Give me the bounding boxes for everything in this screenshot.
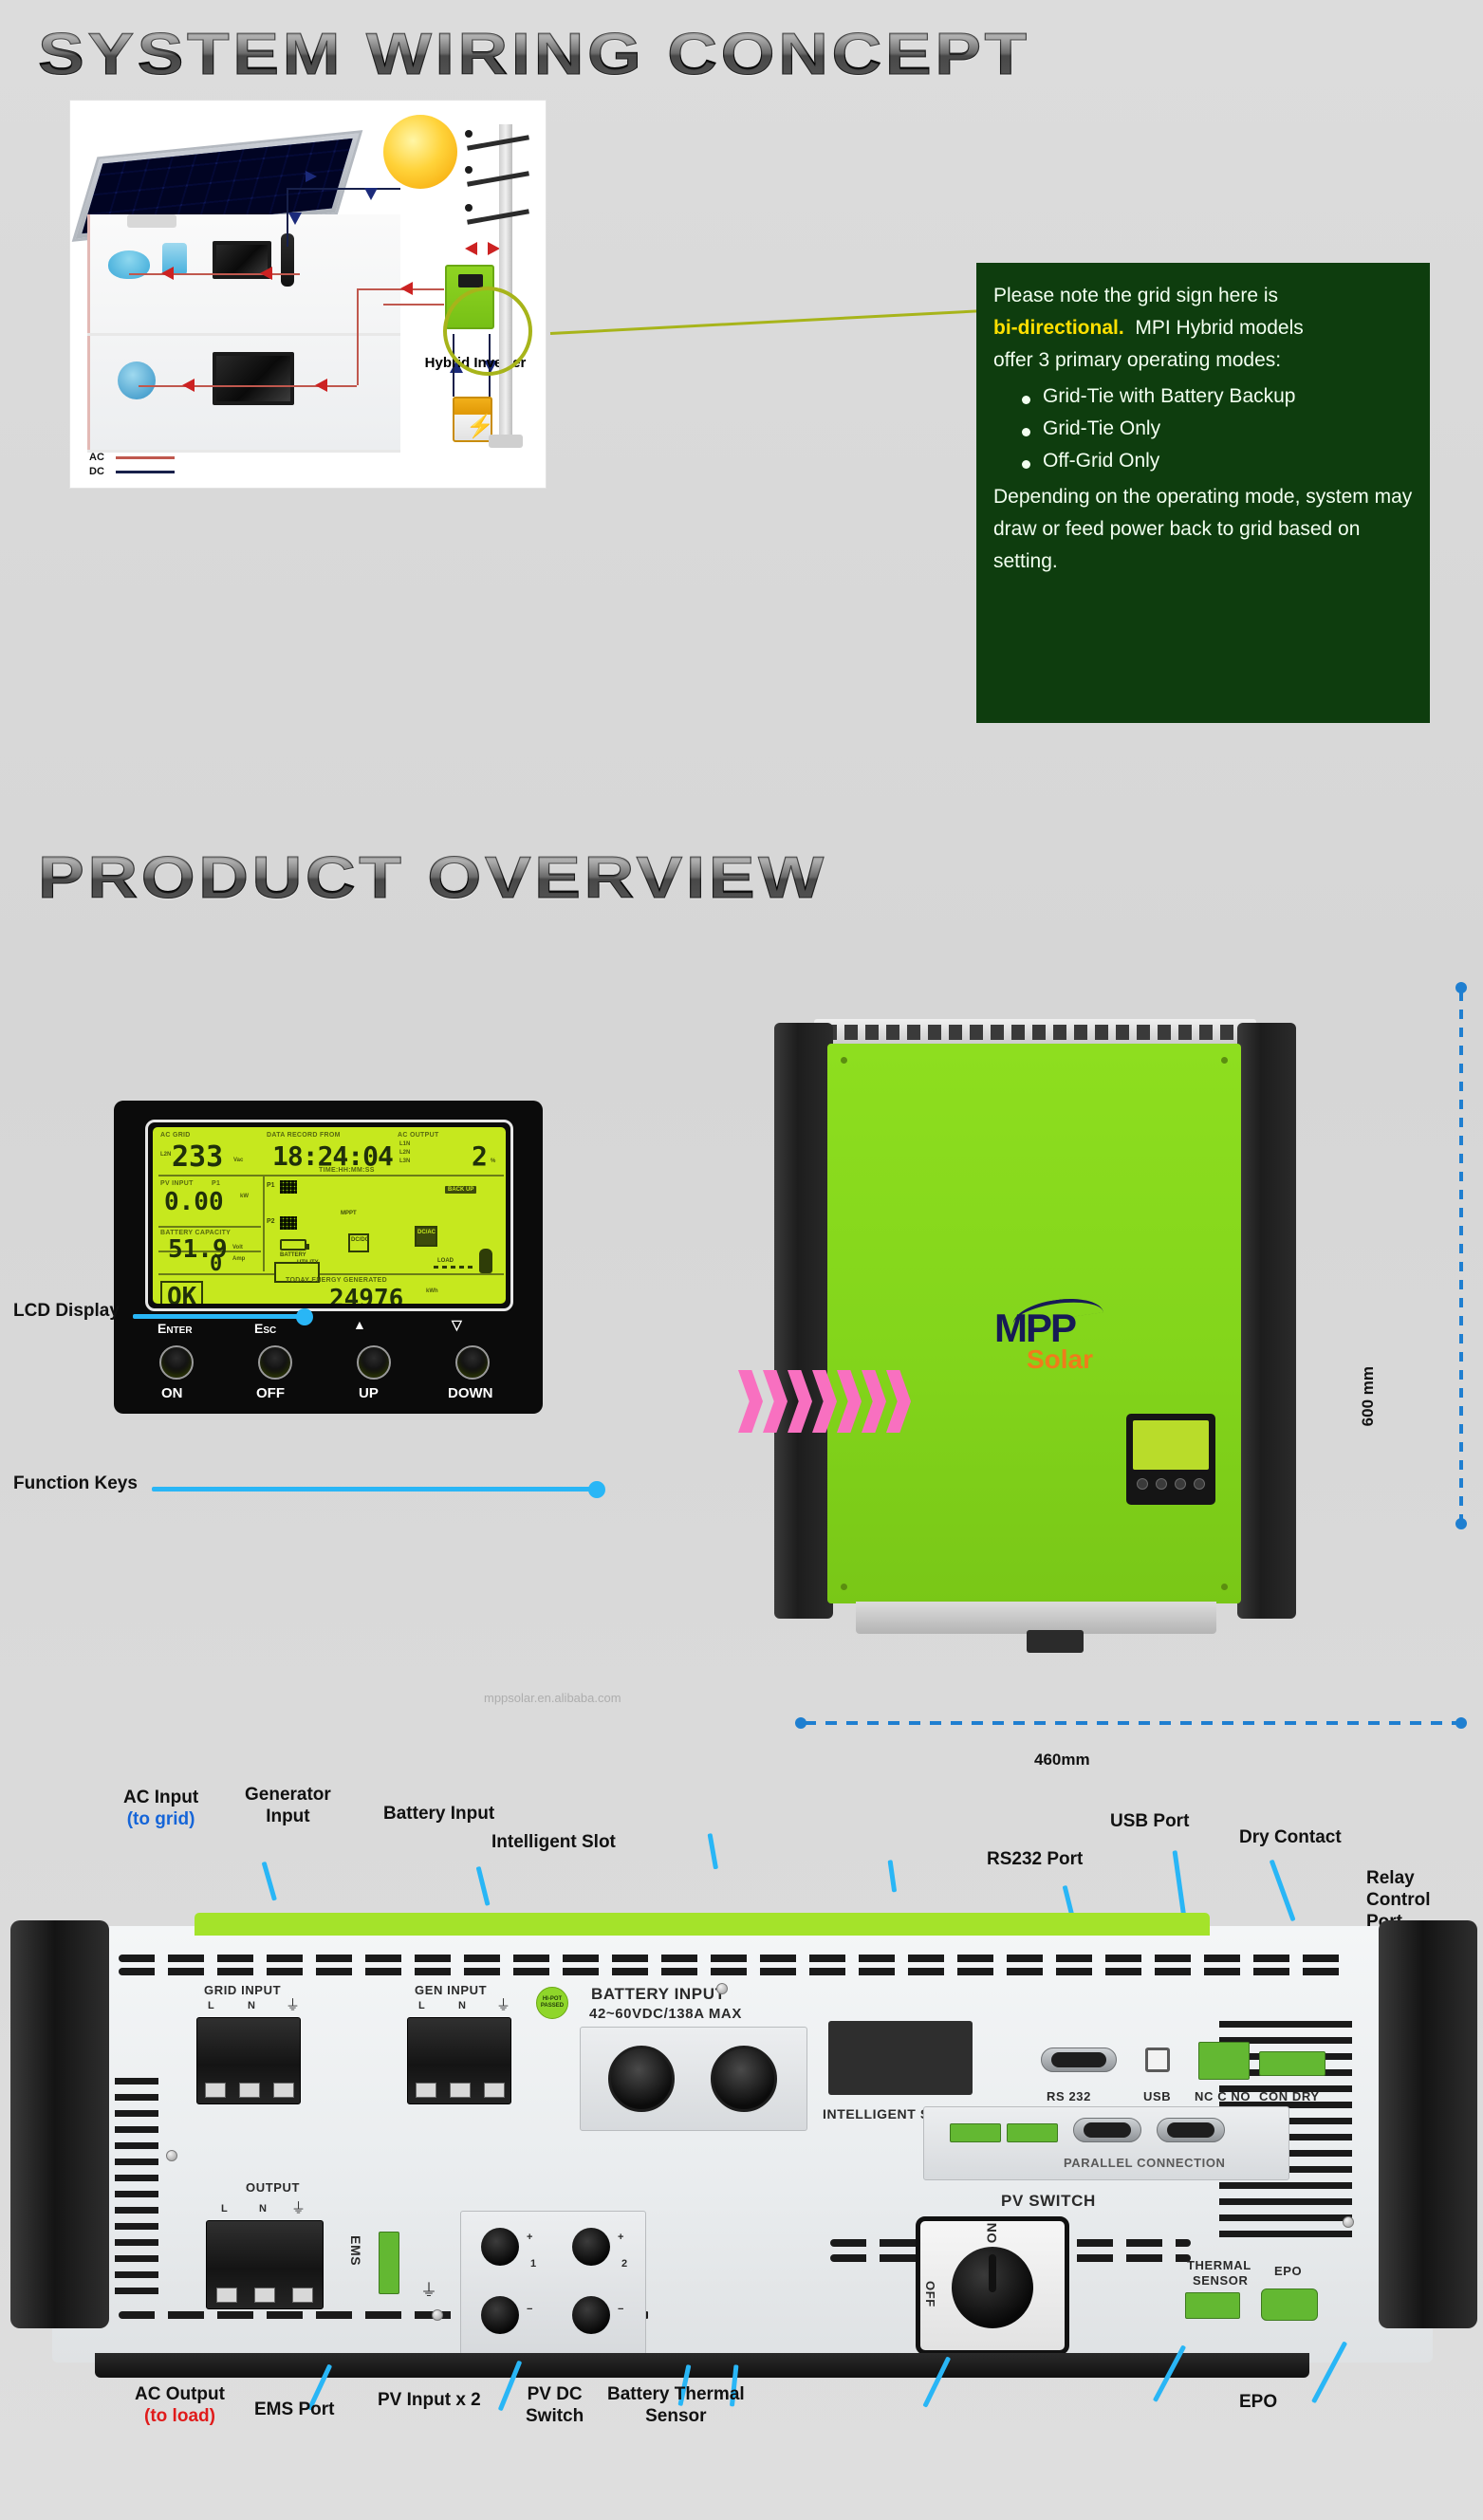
function-key-off[interactable]: [258, 1345, 292, 1380]
parallel-terminal-a[interactable]: [950, 2123, 1001, 2142]
leader-usb-port: [1173, 1850, 1186, 1915]
relay-control-connector[interactable]: [1259, 2051, 1325, 2076]
function-key-label-down-arrow: ▽: [452, 1317, 462, 1333]
lcd-label-ac-grid: AC GRID: [160, 1132, 191, 1139]
inverter-button[interactable]: [1175, 1478, 1186, 1490]
silk-phase-n: N: [458, 2000, 467, 2011]
parallel-terminal-b[interactable]: [1007, 2123, 1058, 2142]
pole-crossarm: [467, 209, 529, 224]
note-box-operating-modes: Please note the grid sign here is bi-dir…: [976, 263, 1430, 723]
silk-battery-spec: 42~60VDC/138A MAX: [589, 2006, 742, 2022]
silk-pv1-minus: −: [527, 2304, 533, 2315]
function-key-text-on: ON: [161, 1385, 183, 1401]
function-key-text-down: DOWN: [448, 1385, 493, 1401]
parallel-db-port-male[interactable]: [1073, 2118, 1141, 2142]
system-wiring-diagram: Hybrid Inverter ⚡ AC DC: [69, 100, 547, 489]
hipot-passed-badge: HI-POT PASSED: [536, 1987, 568, 2019]
note-line-3: offer 3 primary operating modes:: [993, 344, 1415, 377]
lcd-label-battery: BATTERY: [280, 1252, 306, 1258]
flow-arrow-dc: [288, 213, 302, 225]
rear-panel-base-strip: [95, 2353, 1309, 2378]
dc-dc-icon: [348, 1233, 369, 1252]
dimension-line-width: [805, 1721, 1459, 1725]
function-key-label-esc: Esc: [254, 1321, 276, 1336]
lcd-status-ok: OK: [160, 1281, 203, 1304]
lcd-label-l2n: L2N: [160, 1152, 171, 1158]
callout-pv-input: PV Input x 2: [378, 2389, 481, 2411]
callout-relay-label: Relay: [1366, 1868, 1415, 1888]
callout-intelligent-slot: Intelligent Slot: [491, 1831, 616, 1853]
intelligent-slot-cover[interactable]: [828, 2021, 973, 2095]
silk-ems: EMS: [348, 2235, 363, 2266]
leader-ac-input: [262, 1862, 277, 1901]
ground-icon: ⏚: [291, 2197, 306, 2217]
dimension-label-width: 460mm: [1034, 1751, 1090, 1770]
parallel-db-port-female[interactable]: [1157, 2118, 1225, 2142]
highlight-arrows: [738, 1370, 937, 1436]
silk-phase-n: N: [248, 2000, 256, 2011]
battery-graphic: ⚡: [453, 397, 492, 442]
dimension-label-height: 600 mm: [1359, 1366, 1378, 1426]
list-item: Off-Grid Only: [993, 445, 1415, 477]
callout-ac-input-label: AC Input: [123, 1788, 198, 1807]
wiring-legend: AC DC: [89, 452, 175, 480]
lcd-value-ac-grid-voltage: 233: [172, 1140, 223, 1174]
lcd-value-ac-output-percent: 2: [472, 1140, 488, 1172]
silk-pv1-plus: +: [527, 2232, 533, 2243]
leader-battery-input: [708, 1833, 719, 1869]
callout-relay-label2: Control: [1366, 1889, 1431, 1911]
inverter-bottom-cover: [856, 1602, 1216, 1634]
legend-line-dc: [116, 471, 175, 473]
inverter-right-rail: [1237, 1023, 1296, 1619]
ac-output-terminal[interactable]: [206, 2220, 324, 2309]
callout-pv-dc-switch-label2: Switch: [526, 2405, 584, 2427]
callout-ac-input-sub: (to grid): [123, 1808, 198, 1830]
inverter-product-photo: MPP Solar mppsolar.en.alibaba.com: [769, 987, 1300, 1651]
leader-intelligent-slot: [888, 1860, 898, 1892]
pv2-negative-connector[interactable]: [572, 2296, 610, 2334]
silk-epo: EPO: [1274, 2264, 1302, 2278]
silk-pv-1: 1: [530, 2258, 537, 2270]
lcd-label-l1n: L1N: [399, 1141, 410, 1147]
light-bulb-icon: [479, 1249, 492, 1273]
pole-crossarm: [467, 135, 529, 150]
lcd-value-pv-input: 0.00: [164, 1188, 224, 1216]
callout-ac-input: AC Input (to grid): [123, 1787, 198, 1830]
silk-output: OUTPUT: [246, 2180, 300, 2195]
silk-phase-n: N: [259, 2203, 268, 2214]
pv-switch-knob[interactable]: [952, 2247, 1033, 2328]
silk-rs232: RS 232: [1047, 2089, 1091, 2103]
ac-wire: [129, 273, 300, 275]
dc-wire: [287, 188, 400, 190]
silk-phase-l: L: [208, 2000, 214, 2011]
silk-thermal-sensor-1: THERMAL: [1187, 2258, 1251, 2272]
flow-arrow-ac: [161, 267, 174, 280]
rs232-db9-port[interactable]: [1041, 2047, 1117, 2072]
inverter-rear-panel: GRID INPUT L N ⏚ GEN INPUT L N ⏚ HI-POT …: [52, 1926, 1433, 2362]
callout-lcd-display: LCD Display: [13, 1300, 120, 1322]
callout-battery-thermal-sensor: Battery Thermal Sensor: [607, 2383, 745, 2427]
lcd-unit-vac: Vac: [233, 1158, 243, 1163]
leader-dry-contact: [1270, 1860, 1296, 1922]
inverter-left-rail: [774, 1023, 833, 1619]
thermal-sensor-connector[interactable]: [1185, 2292, 1240, 2319]
lcd-label-dcac: DC/AC: [417, 1230, 436, 1235]
callout-ac-output-label: AC Output: [135, 2384, 225, 2404]
battery-terminal-positive[interactable]: [608, 2046, 675, 2112]
flow-arrow-ac: [400, 282, 413, 295]
leader-function-keys: [152, 1487, 598, 1492]
floor-divider: [87, 333, 400, 336]
silk-pv-switch: PV SWITCH: [1001, 2192, 1096, 2211]
page-title-product-overview: PRODUCT OVERVIEW: [38, 844, 827, 912]
callout-ac-output-sub: (to load): [135, 2405, 225, 2427]
ac-wire: [357, 288, 359, 385]
lcd-unit-percent: %: [491, 1158, 495, 1164]
inverter-button[interactable]: [1194, 1478, 1205, 1490]
silk-phase-l: L: [221, 2203, 228, 2214]
watermark-text: mppsolar.en.alibaba.com: [484, 1691, 621, 1705]
inverter-button[interactable]: [1156, 1478, 1167, 1490]
grid-sign-highlight-circle: [443, 287, 532, 376]
inverter-top-vents: [824, 1025, 1245, 1040]
usb-type-b-port[interactable]: [1145, 2047, 1170, 2072]
lcd-value-energy-today: 24976: [329, 1285, 403, 1304]
function-key-text-up: UP: [359, 1385, 379, 1401]
lcd-label-utility: UTILITY: [297, 1260, 319, 1266]
ground-icon: ⏚: [496, 1994, 510, 2014]
mpp-solar-logo: MPP Solar: [994, 1309, 1165, 1372]
lcd-bezel: AC GRID DATA RECORD FROM AC OUTPUT L2N 2…: [145, 1120, 513, 1311]
lcd-label-time-format: TIME:HH:MM:SS: [319, 1167, 375, 1174]
pv1-negative-connector[interactable]: [481, 2296, 519, 2334]
silk-pv-switch-off: OFF: [923, 2281, 937, 2307]
lcd-unit-kwh: kWh: [426, 1288, 438, 1294]
battery-terminal-negative[interactable]: [711, 2046, 777, 2112]
note-closing: Depending on the operating mode, system …: [993, 481, 1415, 578]
callout-ems-port: EMS Port: [254, 2399, 334, 2420]
callout-epo: EPO: [1239, 2391, 1277, 2413]
dim-cap-right: [1455, 1717, 1467, 1729]
flow-arrow-ac: [182, 379, 195, 392]
lcd-label-today-energy: TODAY ENERGY GENERATED: [286, 1277, 387, 1284]
silk-thermal-sensor-2: SENSOR: [1193, 2273, 1249, 2288]
pv1-positive-connector[interactable]: [481, 2228, 519, 2266]
ems-connector[interactable]: [379, 2232, 399, 2294]
legend-line-ac: [116, 456, 175, 459]
leader-dot-lcd-display: [296, 1308, 313, 1325]
list-item: Grid-Tie with Battery Backup: [993, 380, 1415, 413]
callout-dry-contact: Dry Contact: [1239, 1826, 1342, 1848]
ac-wire: [383, 304, 444, 306]
function-key-up[interactable]: [357, 1345, 391, 1380]
flow-arrow-dc: [364, 188, 378, 200]
lcd-badge-backup: BACK UP: [445, 1186, 476, 1194]
callout-thermal-label: Battery Thermal: [607, 2384, 745, 2404]
function-key-down[interactable]: [455, 1345, 490, 1380]
pole-crossarm: [467, 171, 529, 186]
flow-arrow-ac: [260, 267, 272, 280]
silk-phase-l: L: [418, 2000, 425, 2011]
lcd-label-ac-output: AC OUTPUT: [398, 1132, 439, 1139]
pv-panel-icon: [280, 1216, 297, 1230]
legend-label-dc: DC: [89, 466, 110, 477]
lcd-label-p2: P2: [267, 1218, 275, 1225]
dry-contact-connector[interactable]: [1198, 2042, 1250, 2080]
callout-rs232-port: RS232 Port: [987, 1848, 1083, 1870]
callout-pv-dc-switch-label: PV DC: [528, 2384, 583, 2404]
callout-battery-input: Battery Input: [383, 1803, 494, 1825]
battery-icon: [280, 1239, 306, 1251]
lcd-unit-volt: Volt: [232, 1245, 243, 1251]
dim-cap-bottom: [1455, 1518, 1467, 1529]
pv-panel-icon: [280, 1180, 297, 1194]
lcd-label-data-record: DATA RECORD FROM: [267, 1132, 341, 1139]
note-line-1: Please note the grid sign here is: [993, 280, 1415, 312]
function-key-on[interactable]: [159, 1345, 194, 1380]
legend-label-ac: AC: [89, 452, 110, 463]
page-title-system-wiring: SYSTEM WIRING CONCEPT: [38, 21, 1030, 88]
pole-base: [489, 435, 523, 448]
ground-icon: ⏚: [420, 2277, 437, 2302]
callout-thermal-label2: Sensor: [607, 2405, 745, 2427]
note-highlight: bi-directional.: [993, 317, 1124, 339]
tv-icon: [213, 352, 294, 405]
load-flow-arrow: [434, 1266, 475, 1269]
list-item: Grid-Tie Only: [993, 413, 1415, 445]
inverter-button[interactable]: [1137, 1478, 1148, 1490]
callout-ac-output: AC Output (to load): [135, 2383, 225, 2427]
ceiling-lamp-icon: [127, 214, 176, 228]
dimension-line-height: [1459, 991, 1463, 1523]
silk-con-dry: CON DRY: [1259, 2089, 1320, 2103]
leader-lcd-display: [133, 1314, 306, 1319]
function-key-label-enter: Enter: [158, 1321, 193, 1336]
silk-pv2-plus: +: [618, 2232, 624, 2243]
note-line-2: bi-directional. MPI Hybrid models: [993, 312, 1415, 344]
lcd-unit-amp: Amp: [232, 1256, 245, 1262]
pv2-positive-connector[interactable]: [572, 2228, 610, 2266]
epo-connector[interactable]: [1261, 2288, 1318, 2321]
silk-pv-switch-on: ON: [984, 2222, 999, 2243]
lcd-screen: AC GRID DATA RECORD FROM AC OUTPUT L2N 2…: [153, 1127, 506, 1304]
grid-input-terminal[interactable]: [196, 2017, 301, 2104]
rear-panel-right-endcap: [1379, 1920, 1477, 2328]
silk-nc-c-no: NC C NO: [1195, 2089, 1251, 2103]
leader-generator-input: [476, 1866, 491, 1906]
callout-generator-input-label: Generator: [245, 1785, 331, 1805]
flow-arrow-grid: [465, 242, 477, 255]
logo-text-solar: Solar: [1027, 1347, 1165, 1373]
ground-icon: ⏚: [286, 1994, 300, 2014]
vacuum-icon: [118, 361, 156, 399]
silk-battery-input: BATTERY INPUT: [591, 1985, 726, 2004]
lcd-label-p1: P1: [267, 1182, 275, 1189]
function-key-text-off: OFF: [256, 1385, 285, 1401]
gen-input-terminal[interactable]: [407, 2017, 511, 2104]
operating-modes-list: Grid-Tie with Battery Backup Grid-Tie On…: [993, 380, 1415, 477]
silk-grid-input: GRID INPUT: [204, 1983, 281, 1997]
lcd-label-l2n: L2N: [399, 1150, 410, 1156]
flow-arrow-dc: [306, 171, 317, 182]
sun-icon: [383, 115, 457, 189]
lcd-unit-kw: kW: [240, 1194, 249, 1199]
grid-callout-leader: [550, 309, 982, 335]
silk-pv-2: 2: [621, 2258, 628, 2270]
lcd-label-mppt: MPPT: [341, 1211, 357, 1216]
lcd-label-load: LOAD: [437, 1258, 454, 1264]
lcd-label-pv-p1: P1: [212, 1180, 220, 1187]
function-key-label-up-arrow: ▲: [353, 1317, 366, 1332]
flow-arrow-ac: [315, 379, 327, 392]
silk-gen-input: GEN INPUT: [415, 1983, 487, 1997]
silk-usb: USB: [1143, 2089, 1171, 2103]
utility-pole-graphic: [499, 124, 512, 437]
rear-panel-left-endcap: [10, 1920, 109, 2328]
silk-parallel-connection: PARALLEL CONNECTION: [1064, 2156, 1226, 2170]
lcd-value-battery-amp: 0: [210, 1252, 222, 1276]
inverter-front-display[interactable]: [1126, 1414, 1215, 1505]
lcd-control-panel: AC GRID DATA RECORD FROM AC OUTPUT L2N 2…: [114, 1101, 543, 1414]
leader-dot-function-keys: [588, 1481, 605, 1498]
lcd-label-l3n: L3N: [399, 1158, 410, 1164]
silk-pv2-minus: −: [618, 2304, 624, 2315]
lcd-label-pv-input: PV INPUT: [160, 1180, 194, 1187]
mppt-curve-icon: [339, 1182, 373, 1209]
callout-generator-input-label2: Input: [245, 1806, 331, 1827]
callout-generator-input: Generator Input: [245, 1784, 331, 1827]
rear-panel-green-strip: [195, 1913, 1210, 1936]
inverter-bottom-connector: [1027, 1630, 1084, 1653]
callout-pv-dc-switch: PV DC Switch: [526, 2383, 584, 2427]
callout-function-keys: Function Keys: [13, 1473, 138, 1494]
callout-usb-port: USB Port: [1110, 1810, 1189, 1832]
lcd-label-dcdc: DC/DC: [351, 1237, 369, 1243]
